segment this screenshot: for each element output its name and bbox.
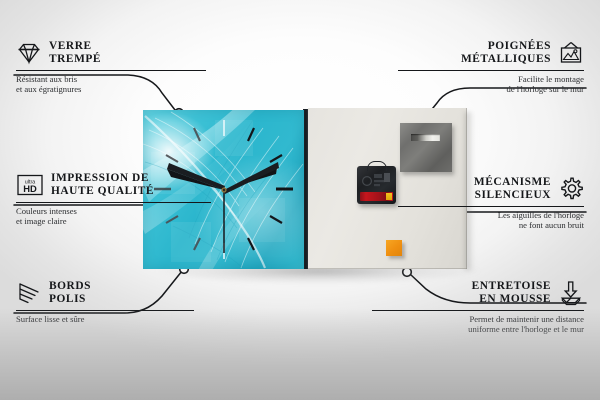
- feature-title-line2: HAUTE QUALITÉ: [51, 185, 154, 198]
- feature-title-line2: SILENCIEUX: [474, 189, 551, 202]
- divider: [372, 310, 584, 311]
- gear-icon: [558, 176, 584, 202]
- divider: [16, 202, 211, 203]
- feature-mecanisme-silencieux: MÉCANISME SILENCIEUX Les aiguilles de l'…: [398, 176, 584, 231]
- feature-subtitle: Résistant aux bris et aux égratignures: [16, 74, 206, 95]
- feature-title: IMPRESSION DE: [51, 172, 154, 185]
- feature-subtitle: Les aiguilles de l'horloge ne font aucun…: [398, 210, 584, 231]
- infographic-canvas: VERRE TREMPÉ Résistant aux bris et aux é…: [0, 0, 600, 400]
- feature-title: BORDS: [49, 280, 91, 293]
- feature-title-line2: TREMPÉ: [49, 53, 101, 66]
- feature-title: VERRE: [49, 40, 101, 53]
- foam-spacer-arrow-icon: [558, 280, 584, 306]
- diamond-icon: [16, 40, 42, 66]
- hanger-slot: [411, 134, 440, 141]
- ultra-hd-icon: ultra HD: [16, 172, 44, 198]
- divider: [16, 310, 194, 311]
- divider: [398, 206, 584, 207]
- mechanism-hook: [367, 161, 387, 171]
- polished-edge-lines-icon: [16, 280, 42, 306]
- quartz-mechanism-box: [357, 166, 396, 204]
- feature-title-line2: POLIS: [49, 293, 91, 306]
- feature-subtitle: Facilite le montage de l'horloge sur le …: [398, 74, 584, 95]
- picture-hanger-icon: [558, 40, 584, 66]
- feature-poignees-metalliques: POIGNÉES MÉTALLIQUES Facilite le montage…: [398, 40, 584, 95]
- battery: [360, 192, 393, 201]
- metal-hanger-plate: [400, 123, 452, 172]
- feature-title: ENTRETOISE: [472, 280, 551, 293]
- foam-spacer: [386, 240, 402, 256]
- feature-title: MÉCANISME: [474, 176, 551, 189]
- svg-text:HD: HD: [23, 183, 37, 194]
- divider: [16, 70, 206, 71]
- feature-bords-polis: BORDS POLIS Surface lisse et sûre: [16, 280, 194, 324]
- feature-title-line2: MÉTALLIQUES: [461, 53, 551, 66]
- feature-verre-trempe: VERRE TREMPÉ Résistant aux bris et aux é…: [16, 40, 206, 95]
- feature-title: POIGNÉES: [461, 40, 551, 53]
- feature-title-line2: EN MOUSSE: [472, 293, 551, 306]
- feature-subtitle: Surface lisse et sûre: [16, 314, 194, 325]
- feature-subtitle: Couleurs intenses et image claire: [16, 206, 211, 227]
- divider: [398, 70, 584, 71]
- mechanism-details: [361, 172, 392, 190]
- feature-subtitle: Permet de maintenir une distance uniform…: [372, 314, 584, 335]
- feature-impression-haute-qualite: ultra HD IMPRESSION DE HAUTE QUALITÉ Cou…: [16, 172, 211, 227]
- feature-entretoise-en-mousse: ENTRETOISE EN MOUSSE Permet de maintenir…: [372, 280, 584, 335]
